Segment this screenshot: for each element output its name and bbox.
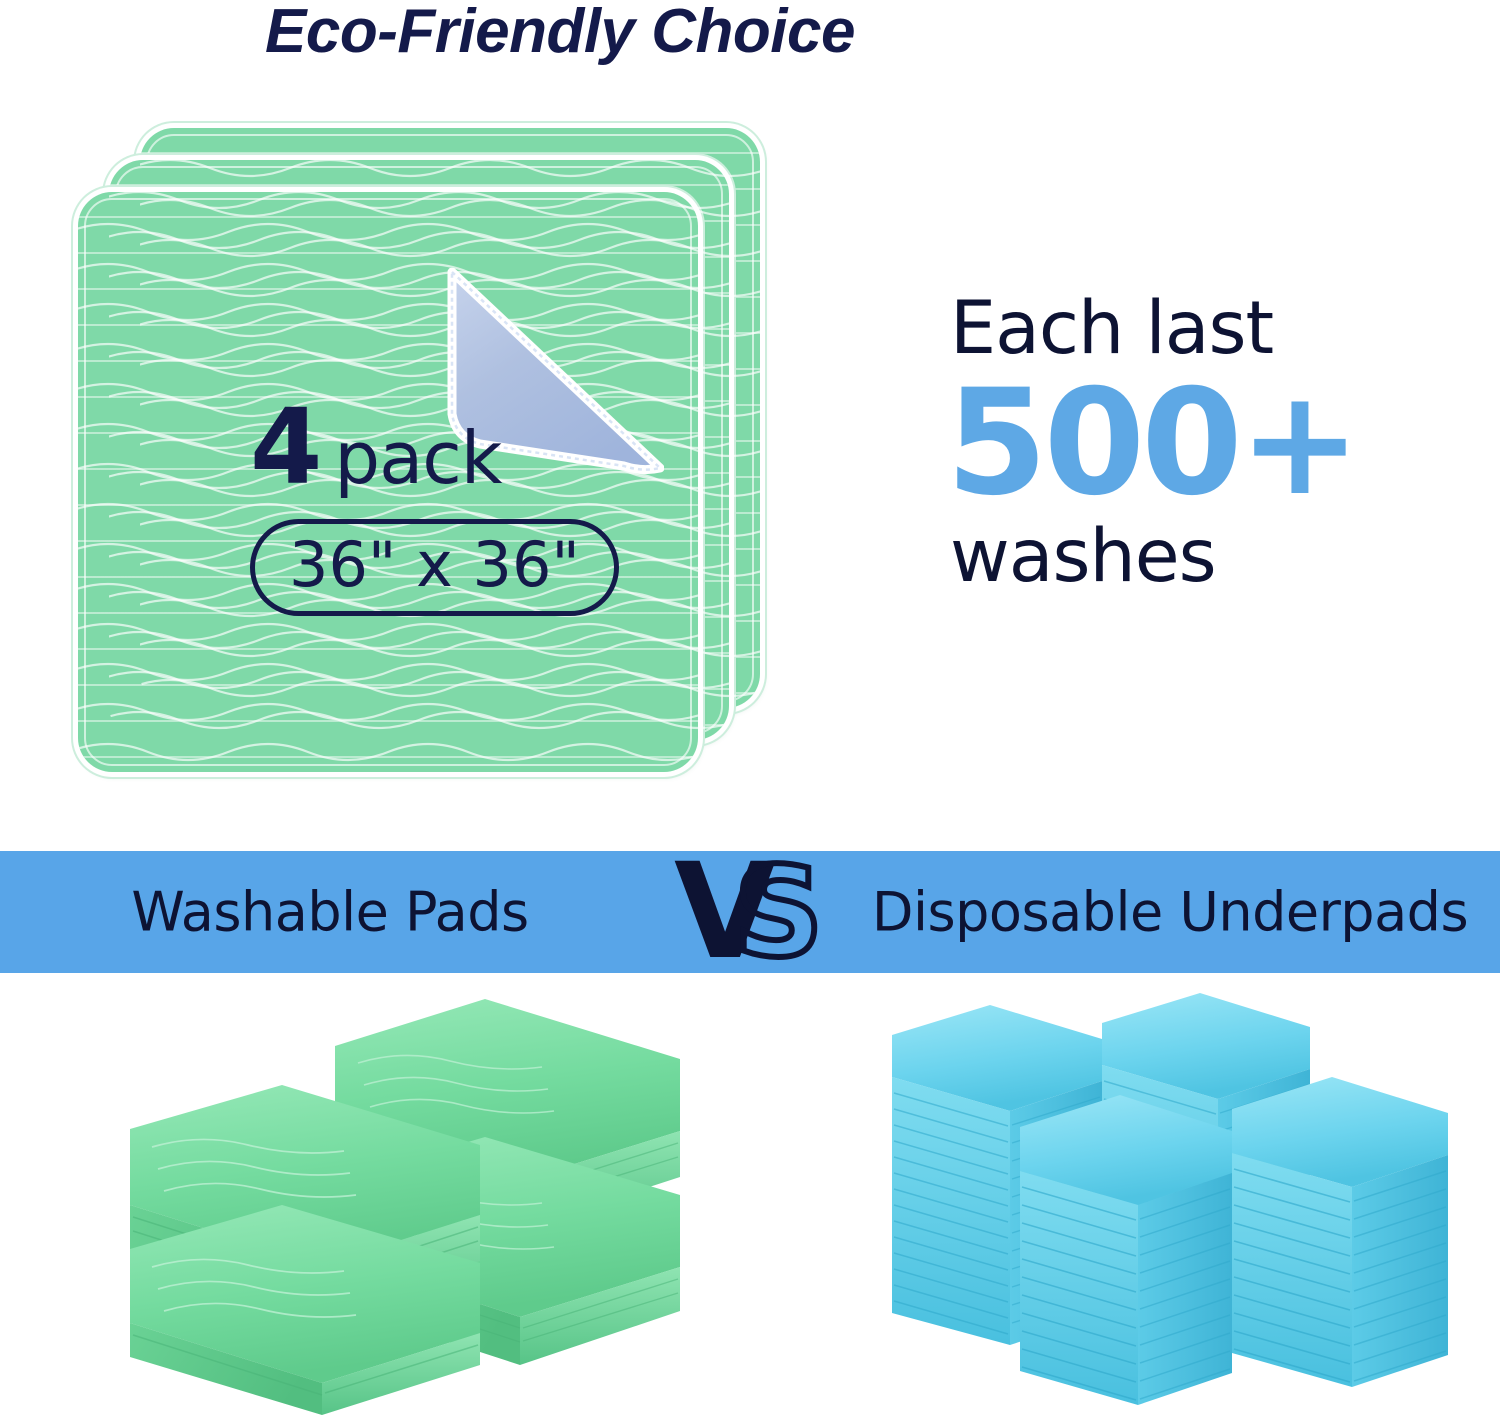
hero-section: Eco-Friendly Choice bbox=[0, 0, 1500, 850]
comparison-photos bbox=[0, 973, 1500, 1421]
claim-number: 500+ bbox=[946, 369, 1430, 518]
pad-stack-illustration: 4 pack 36" x 36" bbox=[78, 128, 778, 793]
underpad-stack-front-right bbox=[1232, 1077, 1448, 1387]
pack-count: 4 bbox=[250, 398, 320, 497]
claim-line-2: washes bbox=[950, 520, 1430, 593]
claim-line-1: Each last bbox=[950, 292, 1430, 365]
disposable-underpads-photo bbox=[870, 973, 1490, 1421]
banner-left-label: Washable Pads bbox=[0, 881, 660, 944]
page-title: Eco-Friendly Choice bbox=[0, 0, 1120, 67]
size-badge: 36" x 36" bbox=[250, 519, 619, 616]
underpad-stack-front-left bbox=[1020, 1095, 1232, 1405]
banner-right-label: Disposable Underpads bbox=[840, 881, 1500, 944]
svg-text:S: S bbox=[734, 845, 823, 979]
pack-word: pack bbox=[334, 424, 501, 492]
pad-callout: 4 pack 36" x 36" bbox=[250, 398, 670, 616]
washes-claim: Each last 500+ washes bbox=[950, 292, 1430, 593]
comparison-banner: Washable Pads V S Disposable Underpads bbox=[0, 851, 1500, 973]
vs-mark-icon: V S bbox=[672, 845, 848, 979]
washable-pads-photo bbox=[90, 981, 750, 1421]
pack-line: 4 pack bbox=[250, 398, 670, 497]
